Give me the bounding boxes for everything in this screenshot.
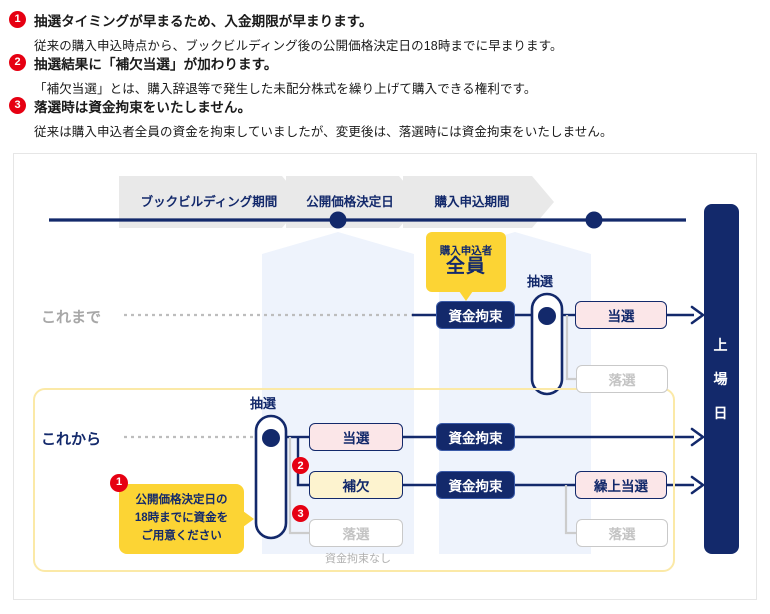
note-title-3: 落選時は資金拘束をいたしません。	[34, 96, 760, 116]
future-lottery-label: 抽選	[250, 393, 276, 412]
deadline-callout: 1 公開価格決定日の 18時までに資金を ご用意ください	[119, 484, 244, 554]
past-applicant-tag-big: 全員	[446, 257, 486, 278]
future-win-box: 当選	[309, 423, 403, 451]
note-item: 2 抽選結果に「補欠当選」が加わります。 「補欠当選」とは、購入辞退等で発生した…	[0, 53, 760, 97]
past-applicant-tag: 購入申込者 全員	[426, 232, 506, 292]
note-title-1: 抽選タイミングが早まるため、入金期限が早まります。	[34, 10, 760, 30]
note-body-2: 「補欠当選」とは、購入辞退等で発生した未配分株式を繰り上げて購入できる権利です。	[34, 78, 760, 97]
timeline-dot-application-end	[586, 212, 603, 229]
future-row-label: これから	[41, 428, 101, 449]
past-win-box: 当選	[575, 301, 667, 329]
note-badge-3: 3	[9, 97, 26, 114]
note-body-1: 従来の購入申込時点から、ブックビルディング後の公開価格決定日の18時までに早まり…	[34, 35, 760, 54]
ipo-flow-diagram: ブックビルディング期間 公開価格決定日 購入申込期間 これまで 購入申込者 全員…	[13, 153, 757, 600]
listing-day-char-2: 場	[714, 369, 730, 389]
note-body-3: 従来は購入申込者全員の資金を拘束していましたが、変更後は、落選時には資金拘束をい…	[34, 121, 760, 140]
past-fund-lock-box: 資金拘束	[436, 301, 515, 329]
note-item: 1 抽選タイミングが早まるため、入金期限が早まります。 従来の購入申込時点から、…	[0, 10, 760, 54]
note-item: 3 落選時は資金拘束をいたしません。 従来は購入申込者全員の資金を拘束していまし…	[0, 96, 760, 140]
future-fund-lock-reserve-box: 資金拘束	[436, 471, 515, 499]
note-title-2: 抽選結果に「補欠当選」が加わります。	[34, 53, 760, 73]
phase-label-price-decision: 公開価格決定日	[290, 189, 410, 215]
past-lottery-label: 抽選	[527, 271, 553, 290]
future-fund-lock-win-box: 資金拘束	[436, 423, 515, 451]
phase-label-application: 購入申込期間	[407, 189, 537, 215]
listing-day-char-3: 日	[714, 403, 730, 423]
note-badge-1: 1	[9, 11, 26, 28]
listing-day-char-1: 上	[714, 335, 730, 355]
future-reserve-box: 補欠	[309, 471, 403, 499]
deadline-callout-text: 公開価格決定日の 18時までに資金を ご用意ください	[135, 492, 228, 545]
past-lose-box: 落選	[576, 365, 668, 393]
deadline-callout-line-3: ご用意ください	[135, 528, 228, 546]
listing-day-bar: 上 場 日	[704, 204, 739, 554]
deadline-callout-line-2: 18時までに資金を	[135, 510, 228, 528]
past-row-label: これまで	[41, 306, 101, 327]
past-lottery-dot	[538, 307, 556, 325]
past-applicant-tag-tail	[459, 291, 473, 301]
deadline-callout-badge: 1	[110, 474, 128, 492]
note-badge-2: 2	[9, 54, 26, 71]
deadline-callout-tail	[243, 511, 254, 527]
future-lose-box: 落選	[309, 519, 403, 547]
future-promoted-lose-box: 落選	[576, 519, 668, 547]
deadline-callout-line-1: 公開価格決定日の	[135, 492, 228, 510]
future-marker-3: 3	[292, 505, 309, 522]
future-no-fund-lock-note: 資金拘束なし	[311, 550, 405, 566]
phase-label-bookbuilding: ブックビルディング期間	[124, 189, 294, 215]
future-promoted-win-box: 繰上当選	[575, 471, 667, 499]
future-marker-2: 2	[292, 457, 309, 474]
